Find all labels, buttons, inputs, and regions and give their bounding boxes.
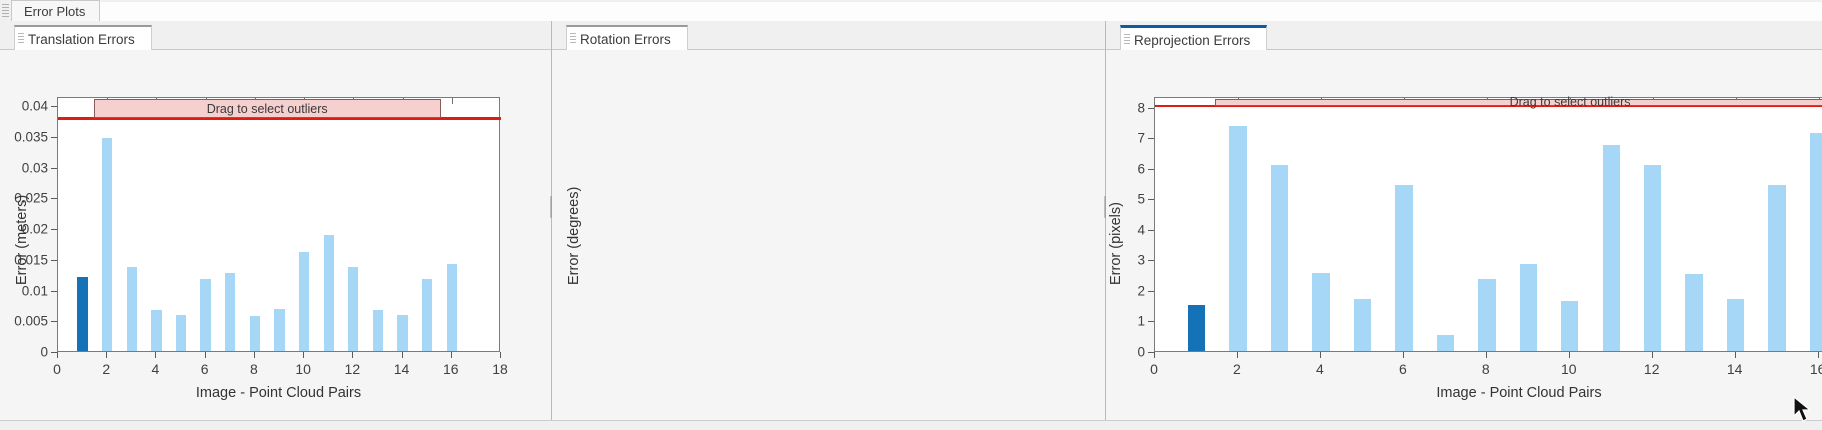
plot-axes[interactable]: Drag to select outliers [1154,97,1822,352]
x-tick [1320,352,1321,358]
y-tick-label: 0 [1137,345,1145,360]
y-tick [51,106,57,107]
y-tick-label: 8 [1137,100,1145,115]
bar-3[interactable] [1271,165,1288,351]
bar-15[interactable] [1768,185,1785,351]
x-axis-title: Image - Point Cloud Pairs [196,385,361,401]
y-tick-label: 2 [1137,283,1145,298]
y-tick-label: 0.01 [22,283,48,298]
document-tabstrip: Error Plots [0,0,1822,22]
top-tick [452,98,453,104]
y-tick-label: 0.035 [14,129,48,144]
y-tick [1148,230,1154,231]
bar-13[interactable] [373,310,383,351]
y-tick [1148,321,1154,322]
bar-10[interactable] [299,252,309,351]
bar-13[interactable] [1685,274,1702,351]
y-tick [51,198,57,199]
y-tick [51,137,57,138]
x-tick [1652,352,1653,358]
x-tick [1403,352,1404,358]
y-tick-label: 3 [1137,253,1145,268]
tab-translation-errors[interactable]: Translation Errors [14,25,152,52]
tab-rotation-errors[interactable]: Rotation Errors [566,25,688,52]
bar-6[interactable] [1395,185,1412,351]
bar-12[interactable] [1644,165,1661,351]
bar-3[interactable] [127,267,137,351]
x-tick [155,352,156,358]
bar-9[interactable] [1520,264,1537,351]
bar-4[interactable] [1312,273,1329,351]
panel-tabstrip-2: Reprojection Errors [1106,21,1822,50]
x-tick [57,352,58,358]
outlier-drag-band-label: Drag to select outliers [1510,95,1631,109]
bar-8[interactable] [1478,279,1495,351]
y-tick [1148,169,1154,170]
bar-5[interactable] [176,315,186,351]
x-tick-label: 2 [1233,361,1241,377]
y-axis: 00.511.522.533.5 [552,97,1105,352]
tab-drag-grip-icon[interactable] [570,33,576,45]
chart-area-1: Drag to select outliers00.511.522.533.5E… [552,50,1105,430]
error-plots-window: Error Plots Translation ErrorsDrag to se… [0,0,1822,430]
chart-area-0: Drag to select outliers00.0050.010.0150.… [0,50,551,430]
tab-drag-grip-icon[interactable] [1124,34,1130,46]
y-tick [1148,291,1154,292]
y-tick-label: 1 [1137,314,1145,329]
y-tick-label: 0.03 [22,160,48,175]
x-tick-label: 6 [1399,361,1407,377]
y-axis-title: Error (degrees) [566,186,582,284]
x-tick-label: 8 [1482,361,1490,377]
y-tick [51,291,57,292]
x-axis: 0246810121416 [1154,352,1822,382]
tab-label: Rotation Errors [580,32,671,47]
y-tick [51,260,57,261]
outlier-drag-band[interactable]: Drag to select outliers [94,99,441,118]
bar-series [58,98,499,351]
bar-14[interactable] [1727,299,1744,351]
x-tick [1569,352,1570,358]
x-tick [500,352,501,358]
x-tick-label: 14 [394,361,410,377]
x-axis-title: Image - Point Cloud Pairs [1436,385,1601,401]
x-tick-label: 2 [102,361,110,377]
y-tick [51,168,57,169]
document-tab-label: Error Plots [24,4,85,19]
x-tick [1486,352,1487,358]
bar-2[interactable] [1229,126,1246,351]
y-tick [1148,199,1154,200]
y-tick-label: 7 [1137,131,1145,146]
bar-2[interactable] [102,138,112,351]
x-tick [402,352,403,358]
tab-label: Translation Errors [28,32,135,47]
x-tick [451,352,452,358]
y-tick [51,229,57,230]
outlier-drag-band[interactable]: Drag to select outliers [1215,99,1822,106]
x-tick-label: 16 [1810,361,1822,377]
window-bottom-frame [0,420,1822,430]
y-tick-label: 6 [1137,161,1145,176]
bar-7[interactable] [1437,335,1454,351]
outlier-drag-band-label: Drag to select outliers [207,102,328,116]
x-tick-label: 10 [295,361,311,377]
x-tick-label: 18 [492,361,508,377]
x-tick [303,352,304,358]
plot-axes[interactable]: Drag to select outliers [57,97,500,352]
bar-7[interactable] [225,273,235,351]
bar-16[interactable] [1810,133,1822,351]
y-tick-label: 4 [1137,222,1145,237]
bar-1[interactable] [1188,305,1205,351]
tab-drag-grip-icon[interactable] [18,33,24,45]
bar-5[interactable] [1354,299,1371,351]
x-tick-label: 0 [1150,361,1158,377]
x-tick-label: 16 [443,361,459,377]
x-tick-label: 8 [250,361,258,377]
x-tick [106,352,107,358]
y-tick-label: 5 [1137,192,1145,207]
x-tick [254,352,255,358]
tab-reprojection-errors[interactable]: Reprojection Errors [1120,25,1267,53]
drag-grip-icon[interactable] [2,4,9,17]
panel-rotation-errors: Rotation ErrorsDrag to select outliers00… [552,21,1105,430]
bar-11[interactable] [324,235,334,351]
bar-12[interactable] [348,267,358,351]
x-tick-label: 12 [345,361,361,377]
y-axis-title: Error (meters) [14,194,30,284]
x-axis: 024681012141618 [57,352,500,382]
x-tick-label: 4 [1316,361,1324,377]
x-tick-label: 10 [1561,361,1577,377]
panel-translation-errors: Translation ErrorsDrag to select outlier… [0,21,551,430]
y-tick [1148,138,1154,139]
bar-16[interactable] [447,264,457,351]
bar-10[interactable] [1561,301,1578,351]
bar-series [1155,98,1822,351]
chart-area-2: Drag to select outliers012345678Error (p… [1106,50,1822,430]
x-tick [205,352,206,358]
y-tick-label: 0.005 [14,314,48,329]
y-tick-label: 0.04 [22,99,48,114]
bar-6[interactable] [200,279,210,351]
x-tick [1237,352,1238,358]
y-axis-title: Error (pixels) [1108,202,1124,285]
x-tick-label: 12 [1644,361,1660,377]
y-tick [1148,260,1154,261]
x-tick-label: 4 [152,361,160,377]
bar-11[interactable] [1603,145,1620,351]
bar-9[interactable] [274,309,284,351]
bar-8[interactable] [250,316,260,351]
x-tick-label: 14 [1727,361,1743,377]
x-tick-label: 6 [201,361,209,377]
y-tick [1148,108,1154,109]
x-tick [1818,352,1819,358]
panel-reprojection-errors: Reprojection ErrorsDrag to select outlie… [1106,21,1822,430]
x-tick-label: 0 [53,361,61,377]
document-tab-error-plots[interactable]: Error Plots [11,0,100,22]
tab-label: Reprojection Errors [1134,33,1250,48]
y-tick-label: 0 [40,345,48,360]
document-tabstrip-filler [100,2,1822,22]
y-tick [51,321,57,322]
x-tick [1154,352,1155,358]
panel-tabstrip-0: Translation Errors [0,21,551,50]
x-tick [352,352,353,358]
panel-tabstrip-1: Rotation Errors [552,21,1105,50]
x-tick [1735,352,1736,358]
bar-15[interactable] [422,279,432,351]
bar-1[interactable] [77,277,87,351]
bar-4[interactable] [151,310,161,351]
bar-14[interactable] [397,315,407,351]
